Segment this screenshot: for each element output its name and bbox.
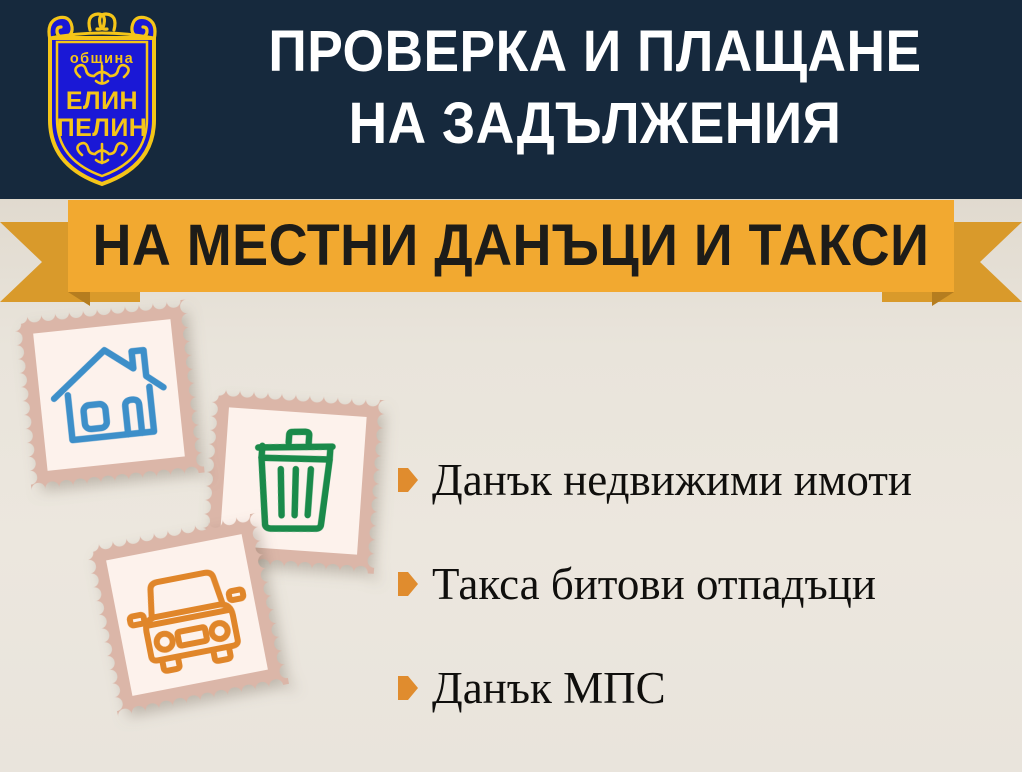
subtitle-ribbon: НА МЕСТНИ ДАНЪЦИ И ТАКСИ — [0, 200, 1022, 308]
list-item[interactable]: Данък МПС — [398, 636, 1018, 740]
municipality-logo: община ЕЛИН ПЕЛИН — [28, 8, 176, 190]
stamp-card-vehicle — [76, 504, 299, 727]
header-banner: община ЕЛИН ПЕЛИН — [0, 0, 1022, 199]
stamp-illustrations — [0, 292, 420, 772]
logo-text-pelin: ПЕЛИН — [57, 114, 148, 142]
logo-text-elin: ЕЛИН — [66, 87, 138, 115]
title-line-1: ПРОВЕРКА И ПЛАЩАНЕ — [218, 16, 972, 88]
list-item-label: Такса битови отпадъци — [432, 558, 876, 610]
ribbon-label: НА МЕСТНИ ДАНЪЦИ И ТАКСИ — [93, 216, 930, 276]
list-item[interactable]: Такса битови отпадъци — [398, 532, 1018, 636]
ribbon-band: НА МЕСТНИ ДАНЪЦИ И ТАКСИ — [68, 200, 954, 292]
arrow-bullet-icon — [398, 676, 418, 700]
arrow-bullet-icon — [398, 468, 418, 492]
title-line-2: НА ЗАДЪЛЖЕНИЯ — [218, 88, 972, 160]
tax-type-list: Данък недвижими имоти Такса битови отпад… — [398, 428, 1018, 740]
stamp-card-real-estate — [5, 291, 214, 500]
list-item[interactable]: Данък недвижими имоти — [398, 428, 1018, 532]
page-title: ПРОВЕРКА И ПЛАЩАНЕ НА ЗАДЪЛЖЕНИЯ — [185, 16, 1005, 160]
list-item-label: Данък МПС — [432, 662, 666, 714]
poster-canvas: община ЕЛИН ПЕЛИН — [0, 0, 1022, 772]
list-item-label: Данък недвижими имоти — [432, 454, 912, 506]
arrow-bullet-icon — [398, 572, 418, 596]
